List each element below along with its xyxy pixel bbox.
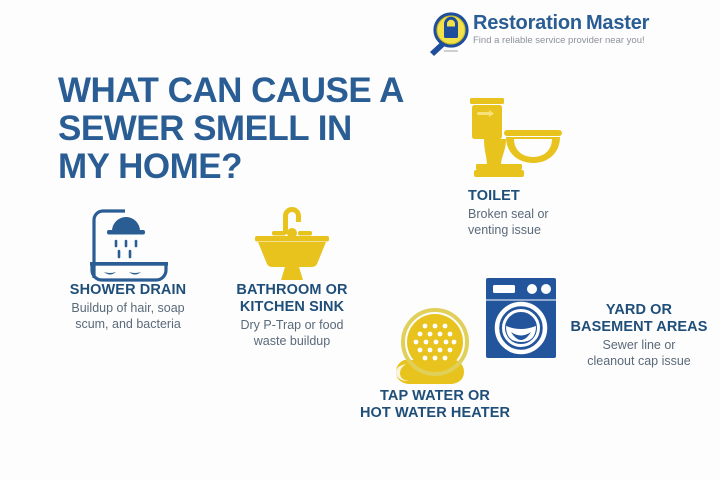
item-sink-desc-line2: waste buildup [254, 334, 330, 348]
item-yard-basement-title-line2: BASEMENT [570, 319, 652, 335]
item-toilet-desc-line1: Broken seal or [468, 207, 549, 221]
item-toilet: TOILET Broken seal or venting issue [440, 96, 620, 238]
washing-machine-icon [482, 276, 560, 362]
infographic-canvas: RestorationMaster Find a reliable servic… [0, 0, 720, 480]
item-tap-water-title: TAP WATER OR HOT WATER HEATER [330, 388, 540, 422]
toilet-icon [440, 96, 620, 182]
headline-line-2: SEWER SMELL IN [58, 110, 458, 148]
brand-name: RestorationMaster [473, 13, 649, 34]
item-yard-basement-title-line1: YARD OR [606, 302, 672, 318]
item-tap-water-title-line2: HOT WATER HEATER [360, 405, 510, 421]
item-yard-basement-desc-line1: Sewer line or [603, 338, 676, 352]
item-yard-basement-desc-line2: cleanout cap issue [587, 354, 691, 368]
brand-logo: RestorationMaster Find a reliable servic… [424, 12, 694, 58]
brand-name-part1: Restoration [473, 12, 582, 34]
page-title: WHAT CAN CAUSE A SEWER SMELL IN MY HOME? [58, 72, 458, 186]
item-yard-basement-title: YARD OR BASEMENT AREAS [570, 302, 708, 336]
item-shower-drain: SHOWER DRAIN Buildup of hair, soap scum,… [38, 198, 218, 332]
shower-bathtub-icon [38, 198, 218, 282]
item-sink-title-line2: KITCHEN SINK [240, 299, 344, 315]
brand-name-part2: Master [586, 12, 649, 34]
item-shower-drain-desc-line2: scum, and bacteria [75, 317, 181, 331]
item-toilet-desc-line2: venting issue [468, 223, 541, 237]
brand-tagline: Find a reliable service provider near yo… [473, 35, 649, 47]
headline-line-1: WHAT CAN CAUSE A [58, 72, 458, 110]
item-yard-basement-title-line3: AREAS [656, 319, 707, 335]
item-shower-drain-desc-line1: Buildup of hair, soap [71, 301, 184, 315]
item-yard-basement: YARD OR BASEMENT AREAS Sewer line or cle… [482, 276, 708, 369]
magnifier-padlock-icon [424, 12, 470, 56]
item-sink-title-line1: BATHROOM OR [236, 282, 347, 298]
item-tap-water-title-line1: TAP WATER OR [380, 388, 490, 404]
item-sink-desc-line1: Dry P-Trap or food [240, 318, 343, 332]
item-toilet-desc: Broken seal or venting issue [468, 206, 620, 238]
item-toilet-title: TOILET [468, 188, 620, 205]
item-shower-drain-desc: Buildup of hair, soap scum, and bacteria [38, 300, 218, 332]
brand-wordmark: RestorationMaster Find a reliable servic… [473, 12, 649, 47]
pedestal-sink-icon [206, 198, 378, 282]
item-shower-drain-title: SHOWER DRAIN [38, 282, 218, 299]
headline-line-3: MY HOME? [58, 148, 458, 186]
item-yard-basement-desc: Sewer line or cleanout cap issue [570, 337, 708, 369]
